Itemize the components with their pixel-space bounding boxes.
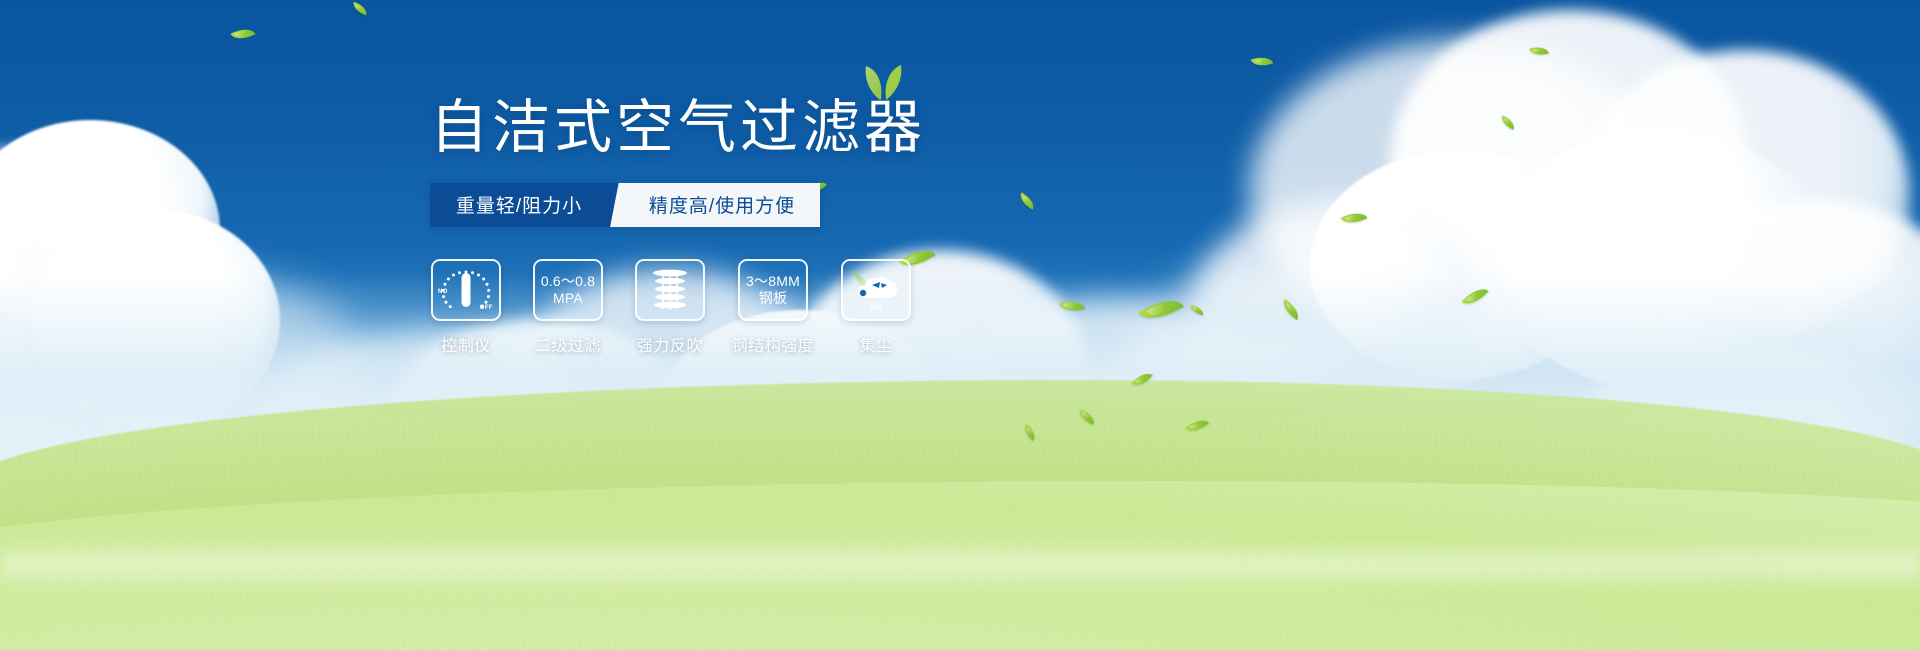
dial-label-off: OFF (480, 305, 493, 311)
feature-label: 集尘 (859, 332, 892, 356)
feature-icon-box: 0.6～0.8 MPA (533, 259, 603, 321)
leaf-icon (1279, 299, 1303, 320)
leaf-icon (1189, 305, 1204, 316)
feature-item-controller[interactable]: NO OFF 控制仪 (430, 259, 502, 356)
leaf-icon (1499, 115, 1517, 130)
leaf-icon (1251, 53, 1274, 70)
page-title: 自洁式空气过滤器 (430, 96, 926, 161)
feature-item-pressure[interactable]: 0.6～0.8 MPA 二级过滤 (532, 259, 604, 356)
feature-label: 二级过滤 (535, 332, 601, 356)
feature-label: 强力反吹 (637, 332, 703, 356)
leaf-icon (1138, 290, 1184, 328)
feature-item-steel[interactable]: 3～8MM 钢板 钢结构强度 (736, 259, 810, 356)
air-cloud-icon: Air (850, 268, 902, 312)
air-label: Air (850, 302, 902, 313)
feature-label: 钢结构强度 (732, 332, 815, 356)
badge-secondary[interactable]: 精度高/使用方便 (614, 183, 820, 227)
filter-stack-icon (647, 266, 693, 314)
feature-icon-box (635, 259, 705, 321)
dial-label-on: NO (438, 289, 448, 295)
leaf-icon (351, 2, 369, 16)
pressure-value-line1: 0.6～0.8 (541, 273, 595, 290)
feature-icon-box: NO OFF (431, 259, 501, 321)
leaf-icon (1341, 207, 1368, 228)
badge-primary[interactable]: 重量轻/阻力小 (430, 183, 614, 227)
steel-value-line2: 钢板 (759, 290, 787, 307)
hero-banner: 自洁式空气过滤器 重量轻/阻力小 精度高/使用方便 (0, 0, 1920, 650)
dial-gauge-icon: NO OFF (438, 266, 494, 314)
feature-icon-box: Air (841, 259, 911, 321)
banner-content: 自洁式空气过滤器 重量轻/阻力小 精度高/使用方便 (430, 96, 1050, 356)
steel-value-line1: 3～8MM (746, 273, 800, 290)
grass-texture (0, 420, 1920, 650)
feature-item-dust[interactable]: Air 集尘 (840, 259, 912, 356)
page-title-wrap: 自洁式空气过滤器 (430, 96, 926, 161)
feature-label: 控制仪 (441, 332, 491, 356)
leaf-icon (1529, 44, 1549, 59)
pressure-value-line2: MPA (553, 290, 583, 307)
feature-icon-box: 3～8MM 钢板 (738, 259, 808, 321)
feature-item-backblow[interactable]: 强力反吹 (634, 259, 706, 356)
dial-needle (462, 273, 471, 307)
feature-list: NO OFF 控制仪 0.6～0.8 MPA 二级过滤 (430, 259, 1050, 356)
leaf-icon (1059, 297, 1085, 315)
badge-divider (598, 183, 632, 227)
sprout-leaves-icon (856, 62, 910, 102)
leaf-icon (1461, 282, 1488, 310)
leaf-icon (230, 24, 255, 45)
badge-group: 重量轻/阻力小 精度高/使用方便 (430, 183, 820, 227)
